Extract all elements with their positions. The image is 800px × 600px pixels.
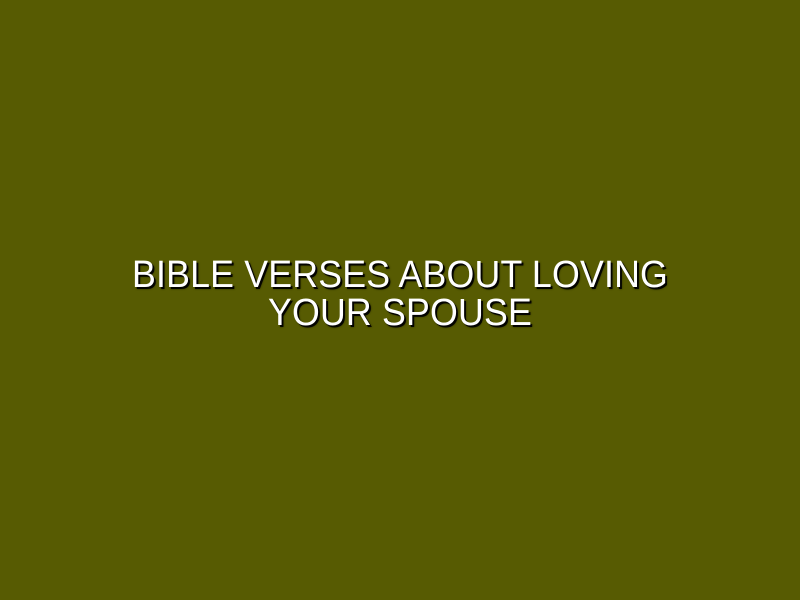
- title-block: BIBLE VERSES ABOUT LOVING YOUR SPOUSE: [80, 256, 720, 332]
- page-title: BIBLE VERSES ABOUT LOVING YOUR SPOUSE: [114, 256, 686, 332]
- featured-image-card: BIBLE VERSES ABOUT LOVING YOUR SPOUSE: [0, 0, 800, 600]
